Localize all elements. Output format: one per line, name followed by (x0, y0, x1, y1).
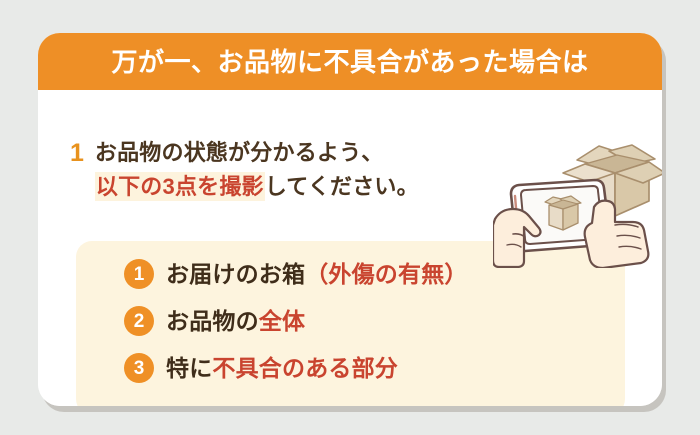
box-on-screen-icon (545, 196, 581, 230)
list-item-accent-text: （外傷の有無） (305, 261, 467, 287)
list-item: 2 お品物の全体 (124, 302, 468, 340)
list-item-plain-text: お品物の (166, 308, 259, 334)
list-item-badge: 3 (124, 353, 154, 383)
step-number: 1 (70, 138, 84, 168)
open-cardboard-box-icon (563, 145, 662, 216)
step-line-2-rest: してください。 (265, 174, 419, 199)
step-line-2-highlight: 以下の3点を撮影 (95, 172, 265, 201)
list-item: 3 特に不具合のある部分 (124, 349, 468, 387)
notice-card: 万が一、お品物に不具合があった場合は 1 お品物の状態が分かるよう、 以下の3点… (38, 33, 662, 406)
step-line-1: お品物の状態が分かるよう、 (95, 138, 419, 168)
step-row: 1 お品物の状態が分かるよう、 以下の3点を撮影してください。 (70, 138, 540, 202)
list-item-accent-text: 不具合のある部分 (212, 355, 398, 381)
list-item-label: お品物の全体 (166, 310, 305, 333)
list-item-label: お届けのお箱（外傷の有無） (166, 263, 468, 286)
list-item-label: 特に不具合のある部分 (166, 357, 398, 380)
card-header: 万が一、お品物に不具合があった場合は (38, 33, 662, 90)
step-1-block: 1 お品物の状態が分かるよう、 以下の3点を撮影してください。 (70, 138, 540, 202)
photo-list-panel: 1 お届けのお箱（外傷の有無） 2 お品物の全体 3 (76, 241, 625, 406)
card-body: 1 お品物の状態が分かるよう、 以下の3点を撮影してください。 1 お (38, 90, 662, 406)
list-item: 1 お届けのお箱（外傷の有無） (124, 255, 468, 293)
list-item-accent-text: 全体 (259, 308, 305, 334)
list-item-badge: 2 (124, 306, 154, 336)
step-line-2: 以下の3点を撮影してください。 (95, 172, 419, 202)
list-item-plain-text: お届けのお箱 (166, 261, 305, 287)
step-lines: お品物の状態が分かるよう、 以下の3点を撮影してください。 (95, 138, 419, 202)
photo-list: 1 お届けのお箱（外傷の有無） 2 お品物の全体 3 (124, 255, 468, 387)
screenshot-stage: 万が一、お品物に不具合があった場合は 1 お品物の状態が分かるよう、 以下の3点… (0, 0, 700, 435)
list-item-badge: 1 (124, 259, 154, 289)
list-item-plain-text: 特に (166, 355, 212, 381)
page-title: 万が一、お品物に不具合があった場合は (111, 49, 588, 75)
